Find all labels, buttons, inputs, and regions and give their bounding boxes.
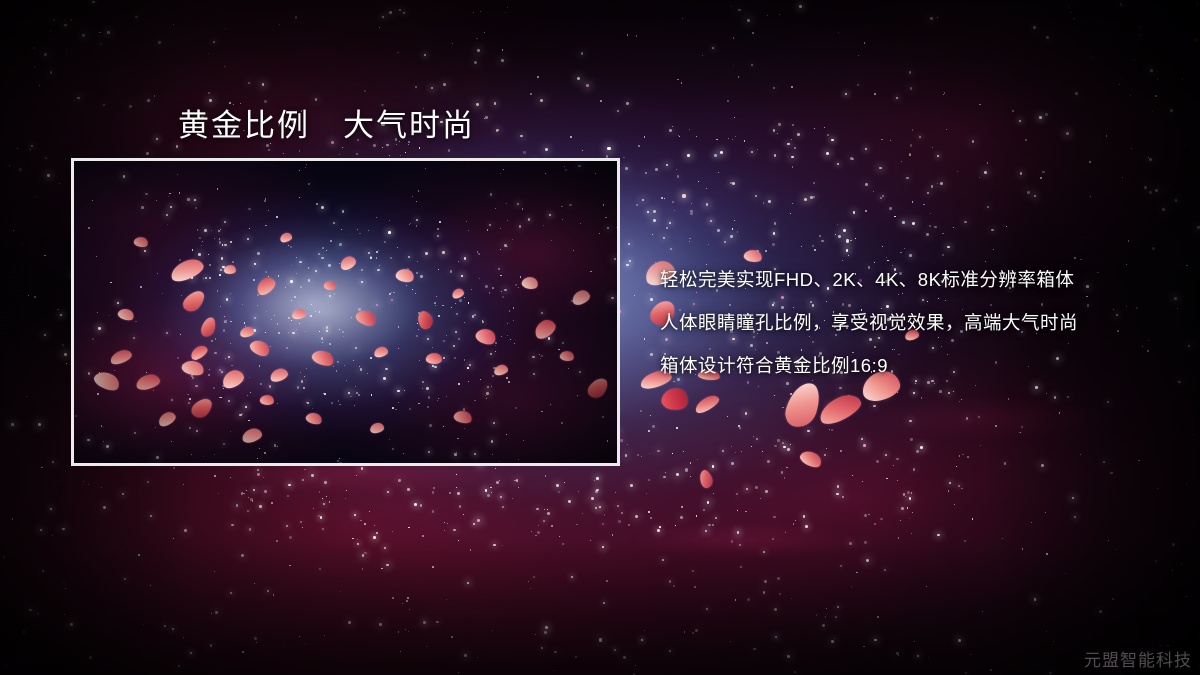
page-title: 黄金比例 大气时尚 (178, 100, 475, 145)
body-line-1: 轻松完美实现FHD、2K、4K、8K标准分辨率箱体 (660, 258, 1160, 301)
body-line-3: 箱体设计符合黄金比例16:9 (660, 344, 1160, 387)
framed-photo (71, 158, 620, 466)
body-text-block: 轻松完美实现FHD、2K、4K、8K标准分辨率箱体 人体眼睛瞳孔比例，享受视觉效… (660, 258, 1160, 387)
framed-photo-vignette (74, 161, 617, 463)
body-line-2: 人体眼睛瞳孔比例，享受视觉效果，高端大气时尚 (660, 301, 1160, 344)
watermark: 元盟智能科技 (1084, 646, 1192, 671)
slide-canvas: 黄金比例 大气时尚 轻松完美实现FHD、2K、4K、8K标准分辨率箱体 人体眼睛… (0, 0, 1200, 675)
